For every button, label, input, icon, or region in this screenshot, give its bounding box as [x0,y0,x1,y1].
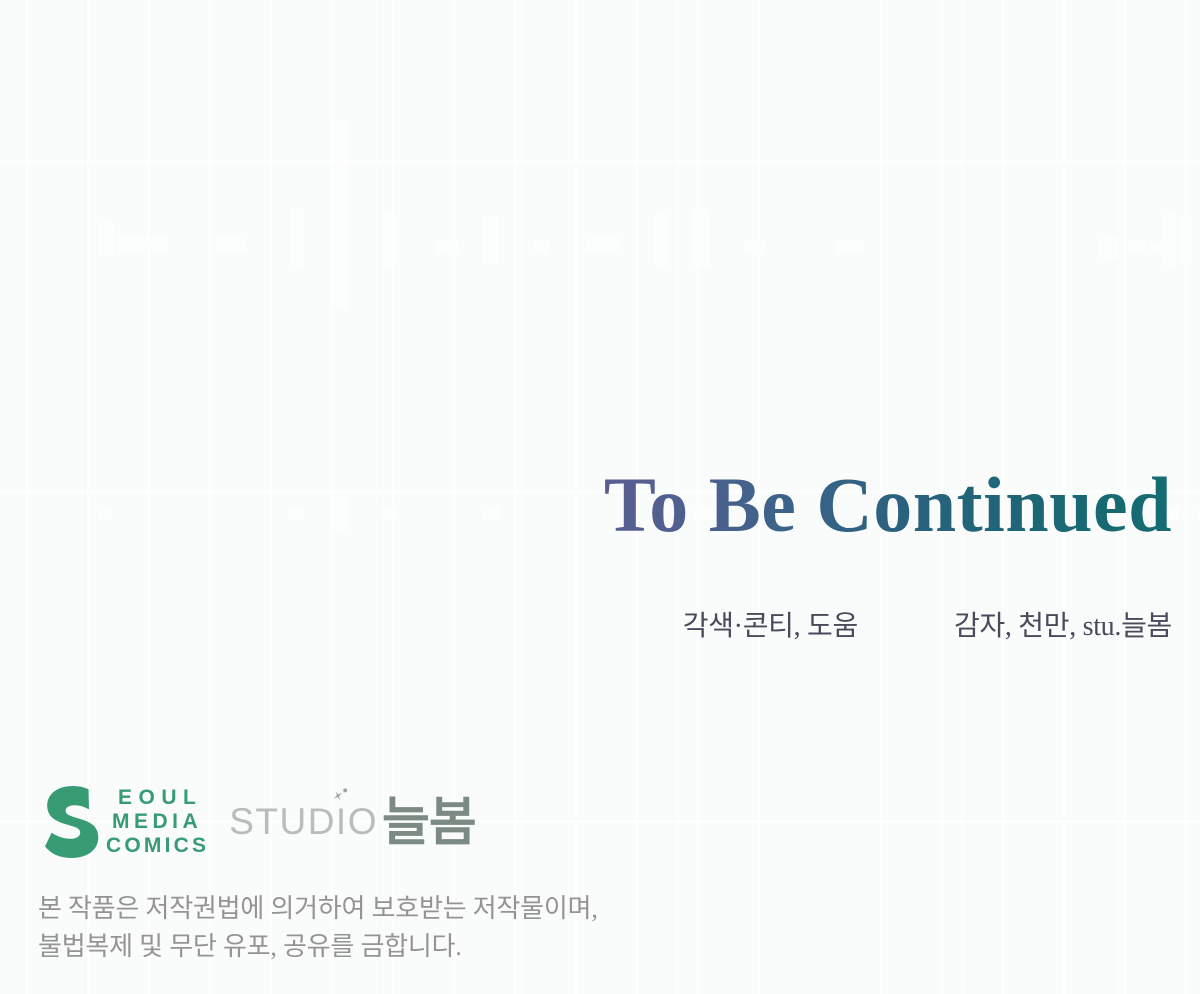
smc-line-comics: COMICS [106,834,209,858]
copyright-line-2: 불법복제 및 무단 유포, 공유를 금합니다. [38,928,598,966]
sparkle-icon [329,787,351,807]
logo-row: EOUL MEDIA COMICS STUDIO 늘봄 [45,786,476,858]
smc-line-media: MEDIA [106,810,209,834]
seoul-media-comics-logo: EOUL MEDIA COMICS [45,786,209,858]
copyright-notice: 본 작품은 저작권법에 의거하여 보호받는 저작물이며, 불법복제 및 무단 유… [38,890,598,966]
credits-row: 각색·콘티, 도움감자, 천만, stu.늘봄 [683,604,1172,644]
credits-names-label: 감자, 천만, stu.늘봄 [954,604,1172,644]
credits-container: 각색·콘티, 도움감자, 천만, stu.늘봄 [0,604,1172,644]
neulbom-brandmark: 늘봄 [382,797,476,858]
smc-line-eoul: EOUL [106,786,209,810]
studio-wordmark: STUDIO [229,803,378,858]
copyright-line-1: 본 작품은 저작권법에 의거하여 보호받는 저작물이며, [38,890,598,928]
headline-container: To Be Continued [0,466,1172,544]
to-be-continued-title: To Be Continued [604,466,1172,544]
end-card-page: To Be Continued 각색·콘티, 도움감자, 천만, stu.늘봄 … [0,0,1200,994]
seoul-media-comics-s-monogram [45,786,105,858]
seoul-media-comics-wordmark: EOUL MEDIA COMICS [106,786,209,858]
credits-roles-label: 각색·콘티, 도움 [683,604,858,644]
studio-neulbom-logo: STUDIO 늘봄 [229,786,475,858]
